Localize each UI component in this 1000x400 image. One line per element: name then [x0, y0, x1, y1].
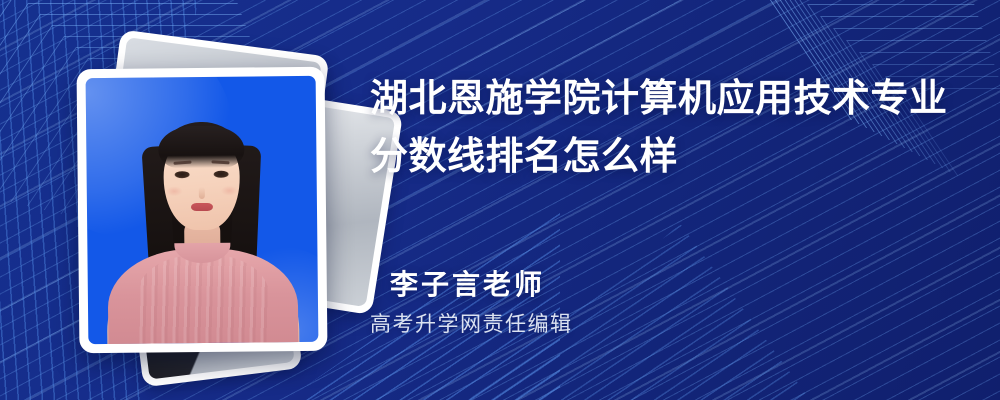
hair-fringe: [158, 126, 244, 169]
eye-right: [214, 170, 229, 177]
author-name: 李子言老师: [390, 268, 573, 302]
author-role: 高考升学网责任编辑: [370, 312, 573, 338]
portrait-figure: [86, 76, 319, 344]
page-title: 湖北恩施学院计算机应用技术专业 分数线排名怎么样: [370, 70, 970, 186]
page-title-line-2: 分数线排名怎么样: [370, 128, 970, 186]
article-banner: 湖北恩施学院计算机应用技术专业 分数线排名怎么样 李子言老师 高考升学网责任编辑: [0, 0, 1000, 400]
byline: 李子言老师 高考升学网责任编辑: [390, 268, 573, 338]
mouth: [191, 203, 213, 211]
avatar: [86, 76, 319, 344]
page-title-line-1: 湖北恩施学院计算机应用技术专业: [370, 70, 970, 128]
photo-card-stack: [46, 26, 376, 376]
photo-frame-icon: [77, 67, 328, 354]
nose: [199, 187, 205, 199]
eye-left: [175, 171, 190, 178]
banner-content: 湖北恩施学院计算机应用技术专业 分数线排名怎么样 李子言老师 高考升学网责任编辑: [370, 0, 980, 400]
dress-pleats: [136, 254, 269, 344]
